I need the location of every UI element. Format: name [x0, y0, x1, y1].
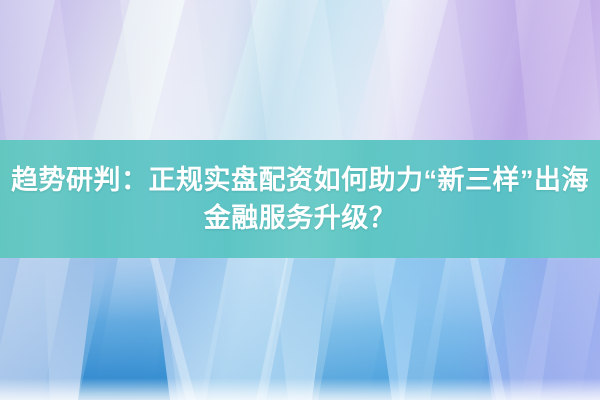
- bottom-haze-overlay: [0, 378, 600, 400]
- article-cover-banner: 趋势研判：正规实盘配资如何助力“新三样”出海 金融服务升级？: [0, 0, 600, 400]
- headline-line-2: 金融服务升级？: [204, 199, 397, 237]
- title-band: 趋势研判：正规实盘配资如何助力“新三样”出海 金融服务升级？: [0, 140, 600, 258]
- headline-line-1: 趋势研判：正规实盘配资如何助力“新三样”出海: [11, 161, 589, 199]
